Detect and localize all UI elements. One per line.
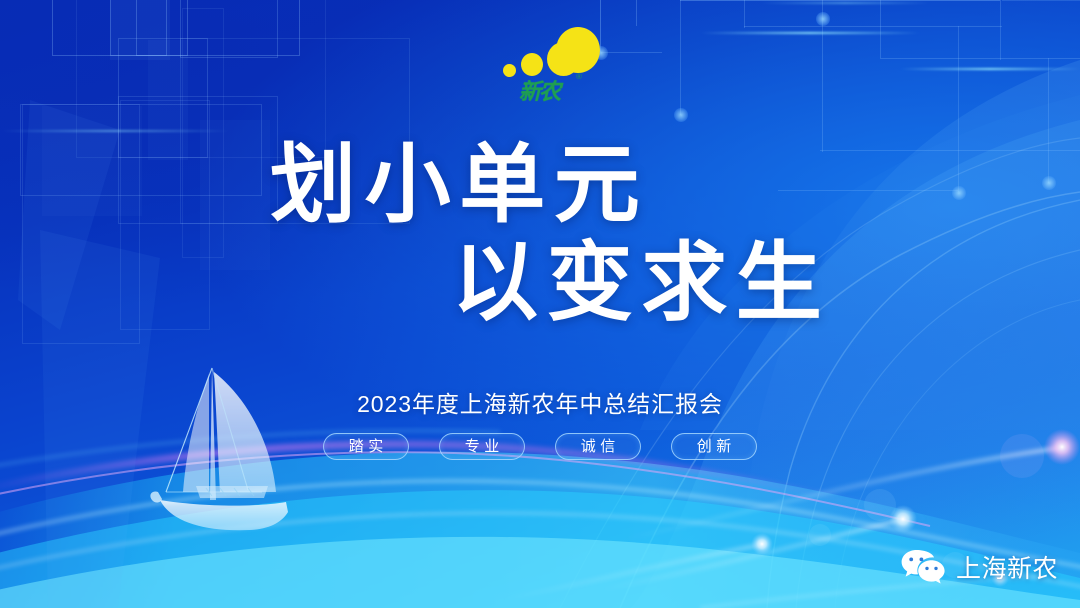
wechat-icon	[900, 548, 946, 586]
logo-dot-2	[521, 53, 543, 76]
wechat-footer: 上海新农	[900, 548, 1058, 586]
value-badge-3: 创新	[671, 433, 757, 460]
value-badge-list: 踏实 专业 诚信 创新	[0, 433, 1080, 460]
page-title: 划小单元 以变求生	[0, 142, 1080, 326]
event-subtitle: 2023年度上海新农年中总结汇报会	[0, 385, 1080, 419]
title-line-1: 划小单元	[0, 142, 1080, 228]
value-badge-1: 专业	[439, 433, 525, 460]
logo-dot-1	[503, 64, 516, 77]
wechat-account-name: 上海新农	[956, 549, 1058, 585]
title-line-2: 以变求生	[0, 240, 1080, 326]
logo-dot-4	[556, 27, 600, 73]
value-badge-2: 诚信	[555, 433, 641, 460]
logo-trademark-symbol: ®	[576, 72, 582, 81]
brand-logo: 新农 ®	[497, 18, 607, 94]
value-badge-0: 踏实	[323, 433, 409, 460]
event-poster: 新农 ® 划小单元 以变求生 2023年度上海新农年中总结汇报会 踏实 专业 诚…	[0, 0, 1080, 608]
logo-wordmark: 新农	[519, 74, 559, 106]
